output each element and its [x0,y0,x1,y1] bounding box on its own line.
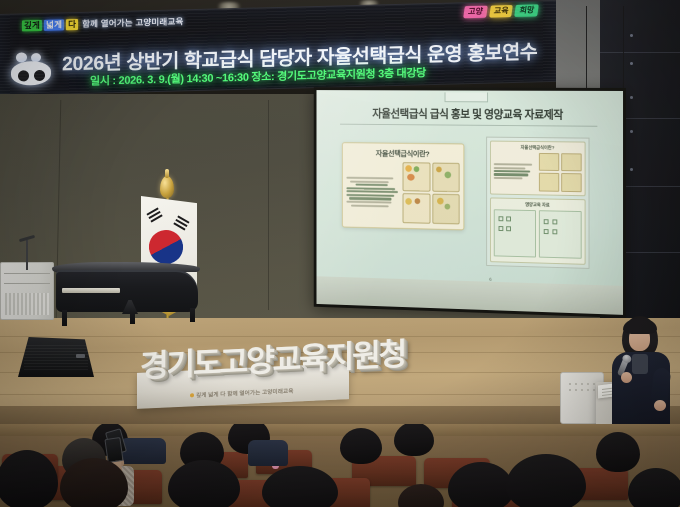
audience-head [506,454,586,507]
led-banner: 깊게 넓게 다 함께 열어가는 고양미래교육 고양 교육 희망 2026년 상반… [0,0,556,96]
thumbnail-chart [539,210,582,259]
slide-thumbnail: 자율선택급식이란? [490,140,587,196]
audience-jacket [120,438,166,464]
audience-head [628,468,680,507]
piano-keys [62,288,120,293]
chip-goyang: 고양 [463,6,487,19]
equipment-cabinet [0,262,54,320]
screen-notch-icon [445,92,489,102]
left-card-tray-photos [403,162,460,225]
slide-title: 자율선택급식 급식 홍보 및 영양교육 자료제작 [316,105,623,123]
tray-photo [432,162,460,192]
presenter-shirt [632,354,648,374]
audience-head [448,462,514,507]
projection-screen-frame: 자율선택급식 급식 홍보 및 영양교육 자료제작 자율선택급식이란? [314,87,626,318]
wall-seam [268,100,269,310]
left-card-text-block [346,161,400,223]
presenter-bangs [623,318,657,334]
audience-head [340,428,382,464]
slide-title-rule [340,124,597,127]
trigram-icon [173,215,189,230]
chip-education: 교육 [489,5,513,18]
audience-area [0,424,680,507]
presenter-hand [621,372,632,383]
stage-monitor-speaker [18,337,94,377]
left-card-title: 자율선택급식이란? [346,147,460,159]
tray-photo [432,194,460,225]
presenter-hand [654,400,666,411]
chip-hope: 희망 [514,4,538,17]
projection-screen: 자율선택급식 급식 홍보 및 영양교육 자료제작 자율선택급식이란? [316,90,623,315]
audience-head [394,424,434,456]
presenter [608,316,674,428]
audience-head [596,432,640,472]
led-corner-chips: 고양 교육 희망 [463,4,539,18]
auditorium-photo: 깊게 넓게 다 함께 열어가는 고양미래교육 고양 교육 희망 2026년 상반… [0,0,680,507]
audience-jacket [248,440,288,466]
tagline-part-1: 깊게 [22,20,42,32]
thumbnail-title: 영양교육 자료 [493,201,582,209]
tray-photo [403,193,431,223]
tagline-part-3: 다 [66,19,78,30]
tagline-part-4: 함께 열어가는 고양미래교육 [80,16,185,30]
smartphone [104,437,123,463]
thumbnail-title: 자율선택급식이란? [493,144,582,151]
slide-thumbnail: 영양교육 자료 [490,197,587,265]
owl-mascot-icon [10,52,54,87]
trigram-icon [146,207,162,222]
audience-head [262,466,338,507]
tray-photo [403,162,431,192]
tagline-part-2: 넓게 [44,19,64,31]
slide-left-card: 자율선택급식이란? [341,142,464,231]
thumbnail-chart [493,209,536,258]
sign-dot-icon [190,393,194,397]
led-banner-tagline: 깊게 넓게 다 함께 열어가는 고양미래교육 [22,16,186,31]
flag-finial-icon [160,176,174,198]
cabinet-grill [5,293,49,315]
slide-thumbnail-stack: 자율선택급식이란? [486,137,589,269]
microphone-stand [26,240,28,270]
